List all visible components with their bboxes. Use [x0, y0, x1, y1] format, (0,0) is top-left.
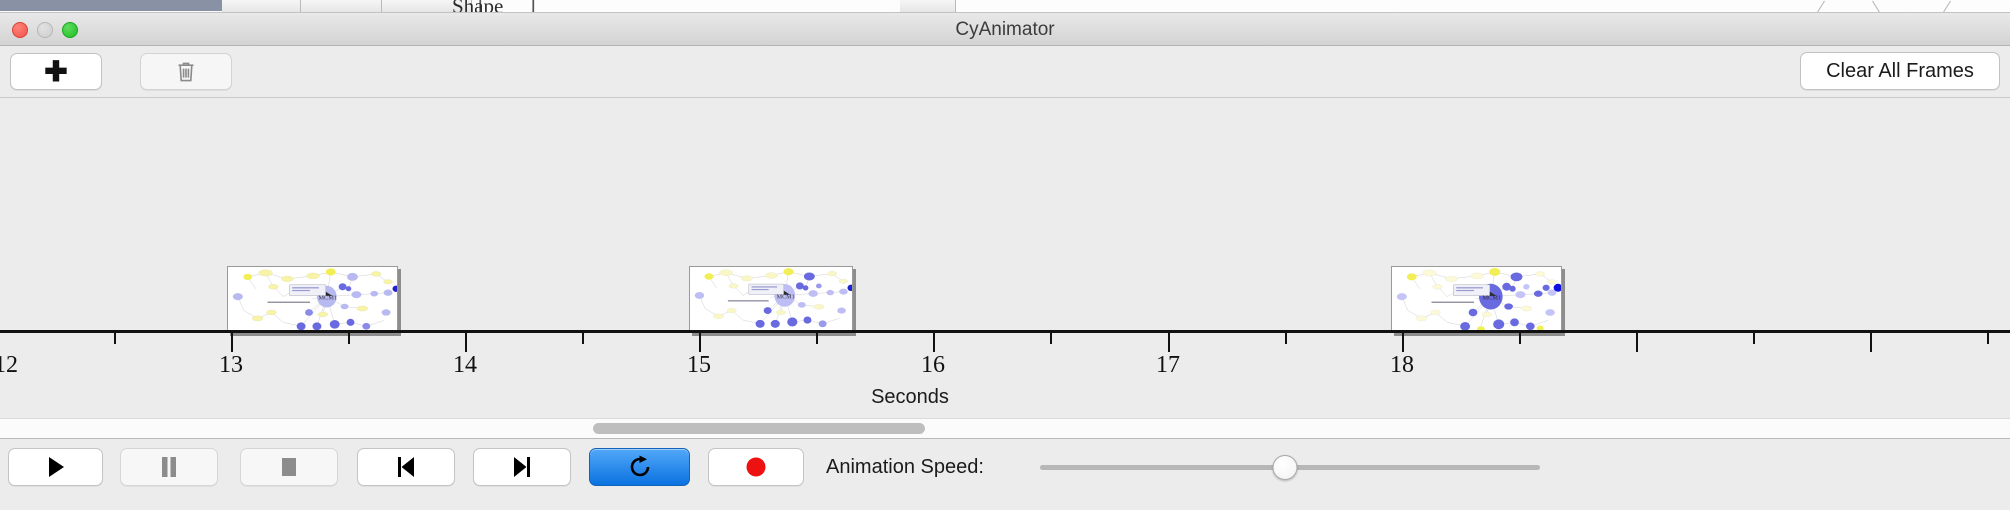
- animation-speed-slider[interactable]: [1040, 448, 1540, 486]
- ruler-axis-line: [0, 330, 2010, 333]
- clear-all-frames-button[interactable]: Clear All Frames: [1800, 52, 2000, 90]
- ruler-major-tick: [465, 333, 467, 352]
- ruler-minor-tick: [1285, 333, 1287, 344]
- ruler-minor-tick: [1050, 333, 1052, 344]
- frames-strip[interactable]: MCM1: [0, 98, 2010, 330]
- cyanimator-window: CyAnimator ✚ Clear All Frames: [0, 13, 2010, 510]
- hub-node-label: MCM1: [1482, 295, 1501, 302]
- ruler-major-tick: [1870, 333, 1872, 352]
- timeline-horizontal-scrollbar[interactable]: [0, 418, 2010, 438]
- ruler-minor-tick: [348, 333, 350, 344]
- record-icon: [745, 456, 767, 478]
- delete-frame-button[interactable]: [140, 53, 232, 90]
- plus-icon: ✚: [44, 58, 67, 86]
- stop-button[interactable]: [240, 448, 338, 486]
- ruler-major-tick: [699, 333, 701, 352]
- axis-title: Seconds: [0, 386, 2010, 409]
- timeline-ruler[interactable]: 12 13 14 15 16 17 18: [0, 330, 2010, 382]
- hub-node-label: MCM1: [777, 294, 795, 300]
- slider-thumb[interactable]: [1273, 455, 1298, 480]
- ruler-minor-tick: [582, 333, 584, 344]
- timeline-frame[interactable]: MCM1: [689, 266, 853, 333]
- hub-node-label: MCM1: [318, 295, 337, 302]
- ruler-minor-tick: [1753, 333, 1755, 344]
- animation-speed-label: Animation Speed:: [826, 448, 984, 486]
- ruler-minor-tick: [1519, 333, 1521, 344]
- skip-back-icon: [396, 456, 416, 478]
- pause-icon: [160, 456, 178, 478]
- skip-forward-icon: [512, 456, 532, 478]
- ruler-major-tick: [1636, 333, 1638, 352]
- network-thumbnail: MCM1: [690, 267, 852, 330]
- ruler-label: 14: [453, 352, 477, 379]
- scrollbar-thumb[interactable]: [593, 423, 925, 434]
- play-button[interactable]: [8, 448, 103, 486]
- pause-button[interactable]: [120, 448, 218, 486]
- play-icon: [47, 456, 65, 478]
- title-bar[interactable]: CyAnimator: [0, 13, 2010, 46]
- frame-toolbar: ✚ Clear All Frames: [0, 46, 2010, 98]
- background-selected-tab: [0, 0, 222, 11]
- ruler-minor-tick: [1987, 333, 1989, 344]
- ruler-major-tick: [231, 333, 233, 352]
- skip-to-end-button[interactable]: [473, 448, 571, 486]
- loop-button[interactable]: [589, 448, 690, 486]
- ruler-label: 16: [921, 352, 945, 379]
- timeline-panel[interactable]: MCM1: [0, 98, 2010, 418]
- ruler-label: 17: [1156, 352, 1180, 379]
- background-window-strip: [ ] Shape: [0, 0, 2010, 13]
- timeline-frame[interactable]: MCM1: [227, 266, 398, 333]
- ruler-label: 15: [687, 352, 711, 379]
- ruler-major-tick: [1402, 333, 1404, 352]
- timeline-frame[interactable]: MCM1: [1391, 266, 1562, 333]
- ruler-major-tick: [933, 333, 935, 352]
- ruler-label: 18: [1390, 352, 1414, 379]
- network-thumbnail: MCM1: [1392, 267, 1561, 333]
- record-button[interactable]: [708, 448, 804, 486]
- add-frame-button[interactable]: ✚: [10, 53, 102, 90]
- window-title: CyAnimator: [0, 13, 2010, 46]
- loop-icon: [628, 455, 652, 479]
- stop-icon: [279, 456, 299, 478]
- network-thumbnail: MCM1: [228, 267, 397, 333]
- playback-toolbar: Animation Speed:: [0, 438, 2010, 496]
- ruler-minor-tick: [816, 333, 818, 344]
- ruler-major-tick: [1168, 333, 1170, 352]
- skip-to-start-button[interactable]: [357, 448, 455, 486]
- ruler-minor-tick: [114, 333, 116, 344]
- ruler-label: 13: [219, 352, 243, 379]
- trash-icon: [176, 60, 196, 84]
- ruler-label: 12: [0, 352, 18, 379]
